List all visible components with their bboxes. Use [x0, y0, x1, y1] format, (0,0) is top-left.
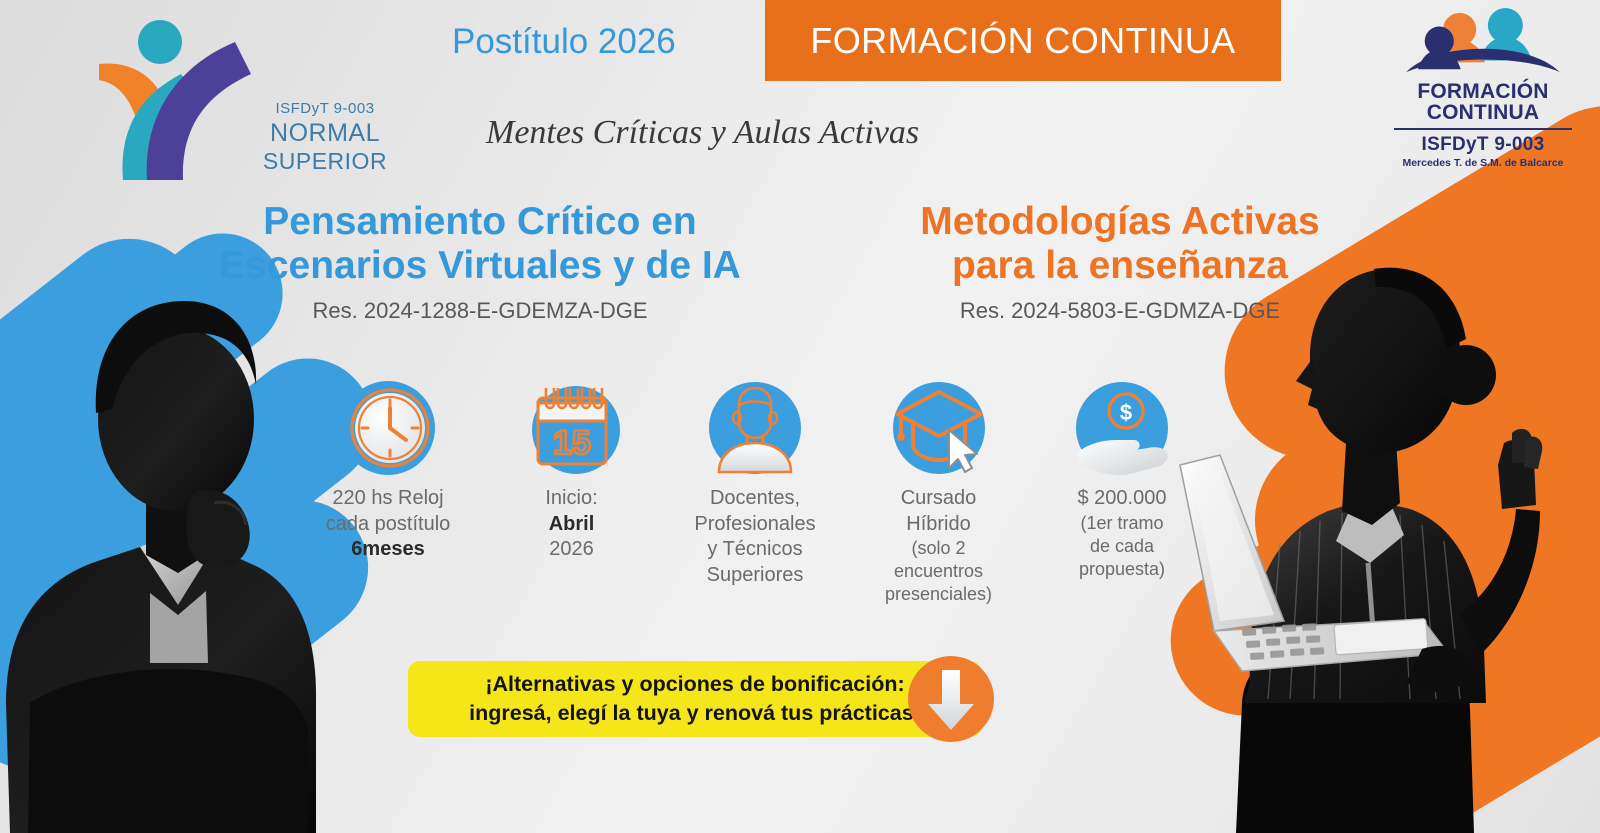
feature-price-line3: de cada	[1039, 535, 1205, 558]
feature-modality-line4: encuentros	[856, 560, 1022, 583]
feature-start-date-line1: Inicio:	[489, 486, 655, 512]
course-left-title-line2: Escenarios Virtuales y de IA	[150, 244, 810, 288]
feature-duration: 220 hs Reloj cada postítulo 6meses	[305, 378, 471, 563]
feature-start-date-line3: 2026	[489, 537, 655, 563]
course-left-resolution: Res. 2024-1288-E-GDEMZA-DGE	[150, 298, 810, 324]
feature-modality-line2: Híbrido	[856, 512, 1022, 538]
course-right-title-line1: Metodologías Activas	[860, 200, 1380, 244]
formacion-continua-banner-label: FORMACIÓN CONTINUA	[810, 20, 1235, 62]
callout-line1: ¡Alternativas y opciones de bonificación…	[469, 670, 921, 699]
formacion-continua-logo: FORMACIÓN CONTINUA ISFDyT 9-003 Mercedes…	[1388, 8, 1578, 193]
logo-right-line1: FORMACIÓN	[1388, 81, 1578, 102]
isfdyt-normal-superior-logo: ISFDyT 9-003 NORMAL SUPERIOR	[85, 12, 385, 190]
feature-price-line4: propuesta)	[1039, 558, 1205, 581]
logo-right-line4: Mercedes T. de S.M. de Balcarce	[1388, 157, 1578, 169]
logo-right-line2: CONTINUA	[1388, 102, 1578, 123]
tagline: Mentes Críticas y Aulas Activas	[486, 114, 919, 152]
feature-audience-line3: y Técnicos	[672, 537, 838, 563]
formacion-continua-banner: FORMACIÓN CONTINUA	[765, 0, 1281, 81]
course-right-resolution: Res. 2024-5803-E-GDMZA-DGE	[860, 298, 1380, 324]
feature-start-date-line2: Abril	[489, 512, 655, 538]
clock-icon	[338, 378, 438, 478]
logo-left-line1: ISFDyT 9-003	[260, 100, 390, 117]
course-metodologias-activas: Metodologías Activas para la enseñanza R…	[860, 200, 1380, 324]
postitulo-year-label: Postítulo 2026	[452, 22, 676, 62]
calendar-day-number: 15	[553, 424, 591, 462]
course-left-title-line1: Pensamiento Crítico en	[150, 200, 810, 244]
course-right-title-line2: para la enseñanza	[860, 244, 1380, 288]
feature-modality: Cursado Híbrido (solo 2 encuentros prese…	[856, 378, 1022, 606]
feature-duration-line1: 220 hs Reloj	[305, 486, 471, 512]
feature-modality-line3: (solo 2	[856, 537, 1022, 560]
graduation-cap-cursor-icon	[889, 378, 989, 478]
feature-audience-line4: Superiores	[672, 563, 838, 589]
feature-audience: Docentes, Profesionales y Técnicos Super…	[672, 378, 838, 588]
hand-money-icon: $	[1072, 378, 1172, 478]
normal-superior-mark-icon	[85, 12, 265, 192]
bonification-callout[interactable]: ¡Alternativas y opciones de bonificación…	[408, 661, 982, 737]
promo-banner: ISFDyT 9-003 NORMAL SUPERIOR FORMACIÓN C…	[0, 0, 1600, 833]
arrow-down-icon	[908, 656, 994, 742]
calendar-icon: 15	[522, 378, 622, 478]
feature-price: $ $ 200.000 (1er tramo de cada propuesta…	[1039, 378, 1205, 581]
feature-price-line1: $ 200.000	[1039, 486, 1205, 512]
person-icon	[705, 378, 805, 478]
feature-duration-line2: cada postítulo	[305, 512, 471, 538]
logo-divider	[1394, 128, 1572, 130]
feature-audience-line2: Profesionales	[672, 512, 838, 538]
logo-left-line3: SUPERIOR	[260, 148, 390, 175]
feature-modality-line5: presenciales)	[856, 583, 1022, 606]
logo-left-line2: NORMAL	[260, 119, 390, 148]
logo-right-line3: ISFDyT 9-003	[1388, 134, 1578, 156]
feature-audience-line1: Docentes,	[672, 486, 838, 512]
feature-price-line2: (1er tramo	[1039, 512, 1205, 535]
svg-text:$: $	[1120, 400, 1132, 425]
three-people-arc-icon	[1398, 8, 1568, 76]
features-row: 220 hs Reloj cada postítulo 6meses	[305, 378, 1205, 606]
feature-start-date: 15 Inicio: Abril 2026	[489, 378, 655, 563]
down-arrow-badge[interactable]	[908, 656, 994, 742]
course-pensamiento-critico: Pensamiento Crítico en Escenarios Virtua…	[150, 200, 810, 324]
feature-duration-line3: 6meses	[305, 537, 471, 563]
callout-line2: ingresá, elegí la tuya y renová tus prác…	[469, 699, 921, 728]
feature-modality-line1: Cursado	[856, 486, 1022, 512]
